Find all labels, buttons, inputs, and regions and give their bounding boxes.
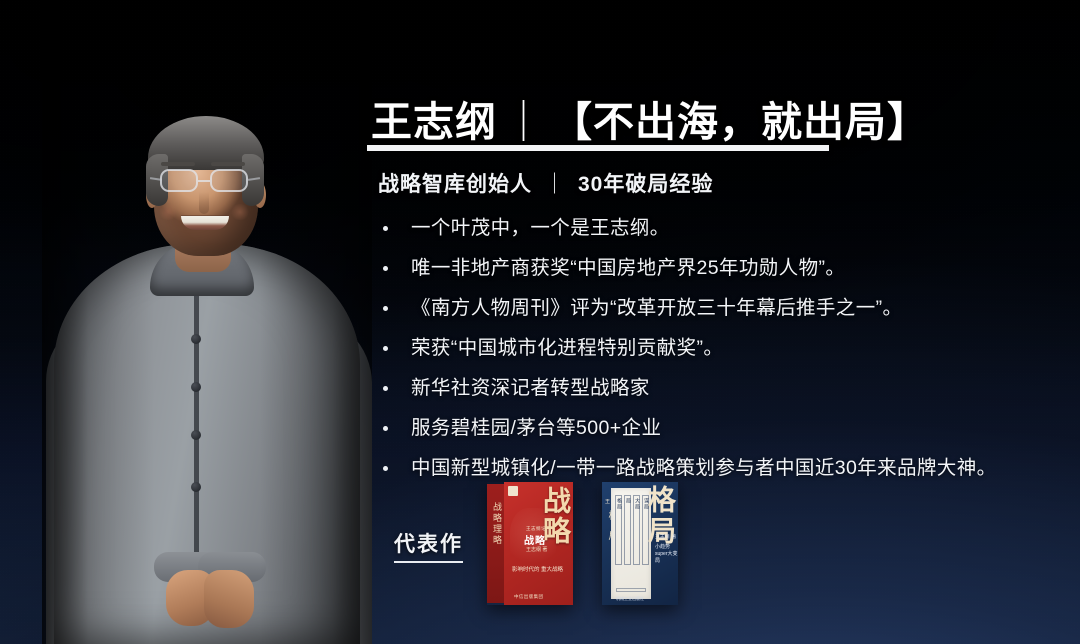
- book-tagline: 小趋势 super大变局: [655, 544, 678, 565]
- book-panel-columns: 格局 局 大局 谋局: [615, 495, 647, 565]
- list-item: 服务碧桂园/茅台等500+企业: [373, 408, 1073, 448]
- list-item: 唯一非地产商获奖“中国房地产界25年功勋人物”。: [373, 248, 1073, 288]
- speaker-portrait: [42, 0, 372, 644]
- book-spine-title: 战略理略: [490, 502, 502, 546]
- list-item: 新华社资深记者转型战略家: [373, 368, 1073, 408]
- title-name: 王志纲: [371, 99, 497, 145]
- list-item: 荣获“中国城市化进程特别贡献奖”。: [373, 328, 1073, 368]
- book-cover-pattern: 王 格 局 格局 局 大局: [602, 482, 678, 605]
- book-author: 王志纲 著: [655, 534, 677, 540]
- book-cover-strategy: 战略理略 战略 王志纲论 战略 王志纲 著 影响时代的 重大战略 中信出版集团: [487, 482, 573, 605]
- representative-works-label: 代表作: [394, 528, 463, 563]
- book-panel-footer: [616, 588, 646, 592]
- portrait-edge-shading: [42, 0, 372, 644]
- list-item: 一个叶茂中，一个是王志纲。: [373, 208, 1073, 248]
- book-panel-column-text: 大局: [634, 498, 640, 510]
- book-panel-column: 局: [624, 495, 631, 565]
- subtitle-separator: ｜: [532, 173, 578, 196]
- book-blurb: 影响时代的 重大战略: [512, 566, 563, 574]
- book-panel-column: 格局: [615, 495, 622, 565]
- book-panel-column: 大局: [633, 495, 640, 565]
- book-panel-column-text: 格局: [616, 498, 622, 510]
- page-title: 王志纲｜【不出海，就出局】: [371, 88, 929, 148]
- slide-canvas: 王志纲｜【不出海，就出局】 战略智库创始人｜30年破局经验 一个叶茂中，一个是王…: [0, 0, 1080, 644]
- title-divider: [367, 145, 829, 151]
- subtitle-experience: 30年破局经验: [578, 173, 713, 196]
- book-front-face: 王 格 局 格局 局 大局: [602, 482, 678, 605]
- book-seal-mark: 王: [605, 498, 610, 505]
- list-item: 《南方人物周刊》评为“改革开放三十年幕后推手之一”。: [373, 288, 1073, 328]
- publisher-logo-icon: [508, 486, 518, 496]
- book-publisher: 中信出版集团: [514, 594, 543, 600]
- book-headline: 战略: [524, 532, 546, 547]
- book-front-face: 战略 王志纲论 战略 王志纲 著 影响时代的 重大战略 中信出版集团: [504, 482, 573, 605]
- subtitle-role: 战略智库创始人: [378, 173, 532, 196]
- title-separator: ｜: [497, 99, 551, 145]
- book-panel-column-text: 局: [625, 498, 631, 504]
- subtitle: 战略智库创始人｜30年破局经验: [378, 168, 713, 198]
- title-tagline: 【不出海，就出局】: [551, 99, 929, 145]
- book-covers: 战略理略 战略 王志纲论 战略 王志纲 著 影响时代的 重大战略 中信出版集团 …: [477, 482, 797, 610]
- content-column: 王志纲｜【不出海，就出局】 战略智库创始人｜30年破局经验 一个叶茂中，一个是王…: [365, 0, 1080, 644]
- credential-list: 一个叶茂中，一个是王志纲。 唯一非地产商获奖“中国房地产界25年功勋人物”。 《…: [373, 208, 1073, 488]
- book-byline: 王志纲 著: [526, 546, 547, 553]
- book-publisher: 机械工业出版社: [616, 596, 644, 602]
- book-spine: 战略理略: [487, 484, 504, 603]
